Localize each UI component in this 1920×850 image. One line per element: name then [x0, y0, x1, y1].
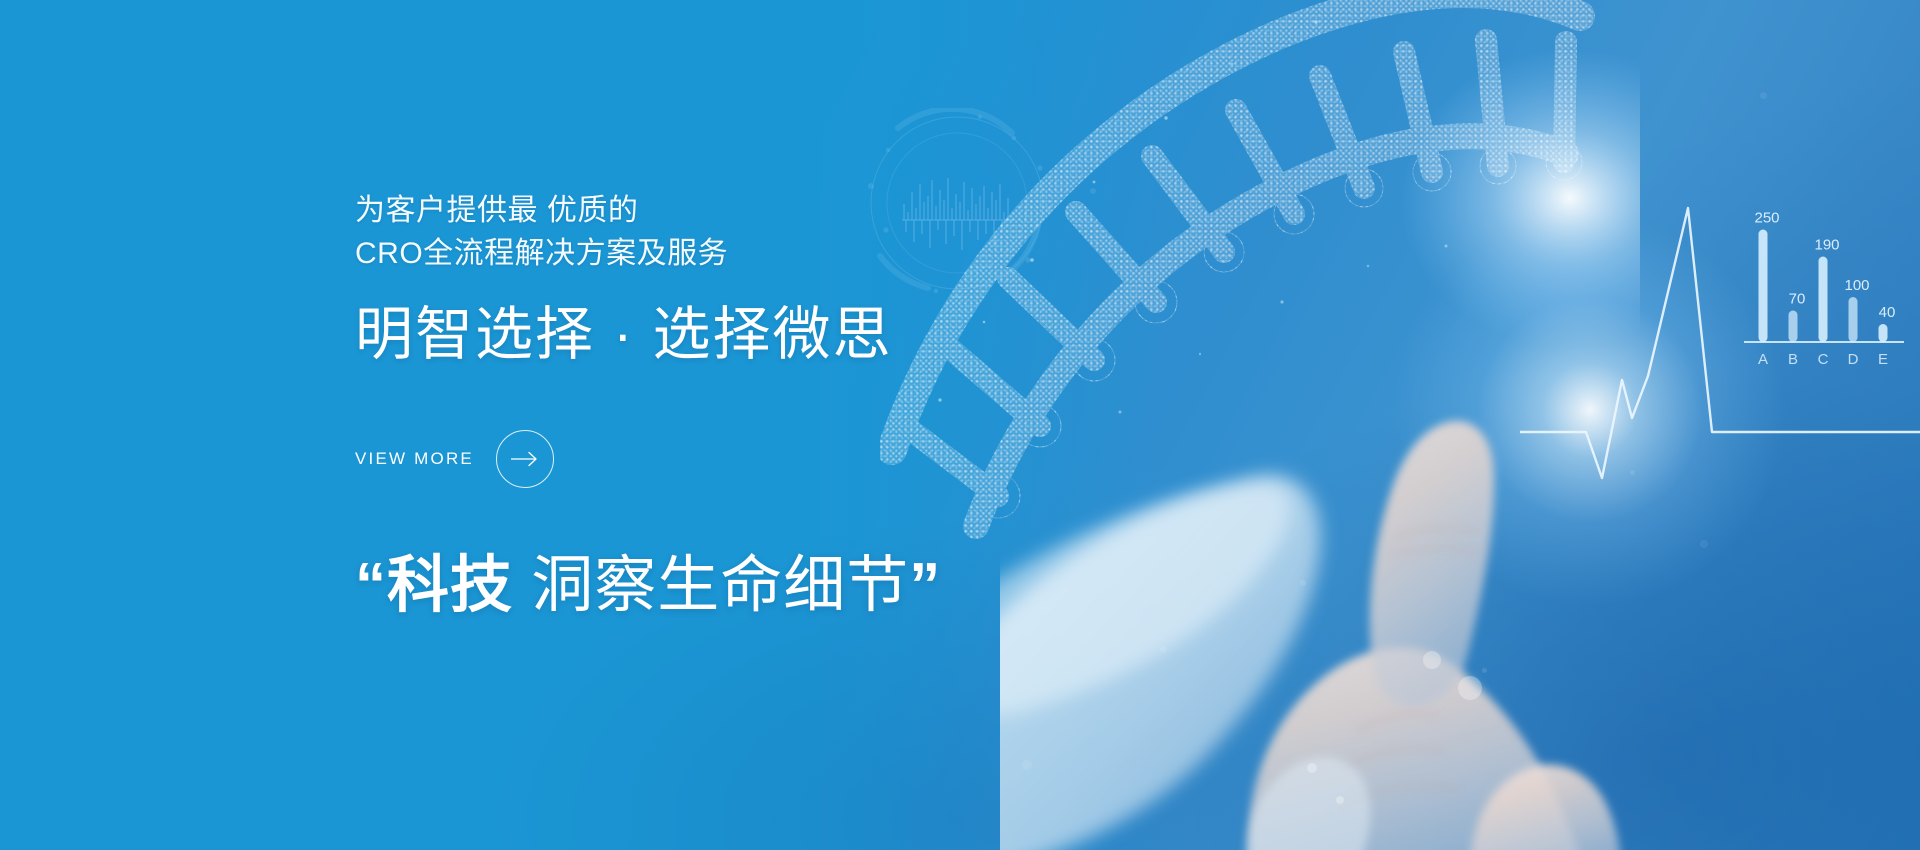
- arrow-right-icon[interactable]: [496, 430, 554, 488]
- view-more-label: VIEW MORE: [355, 449, 474, 469]
- hero-copy: 为客户提供最 优质的 CRO全流程解决方案及服务 明智选择 · 选择微思 VIE…: [355, 190, 1115, 621]
- view-more-button[interactable]: VIEW MORE: [355, 430, 554, 488]
- hero-subtitle: 为客户提供最 优质的 CRO全流程解决方案及服务: [355, 190, 1115, 275]
- hero-quote: “科技 洞察生命细节”: [355, 550, 1115, 621]
- hero-headline: 明智选择 · 选择微思: [355, 301, 1115, 369]
- quote-light-text: 洞察生命细节: [513, 551, 909, 620]
- hero-subtitle-line-1: 为客户提供最 优质的: [355, 190, 1115, 233]
- quote-strong-text: 科技: [387, 551, 513, 620]
- hero-subtitle-line-2: CRO全流程解决方案及服务: [355, 233, 1115, 276]
- quote-open-mark: “: [355, 551, 387, 620]
- hero-banner: ABCDE 2507019010040 为客户提供最 优质的 CRO全流程解决方…: [0, 0, 1920, 850]
- quote-close-mark: ”: [909, 551, 941, 620]
